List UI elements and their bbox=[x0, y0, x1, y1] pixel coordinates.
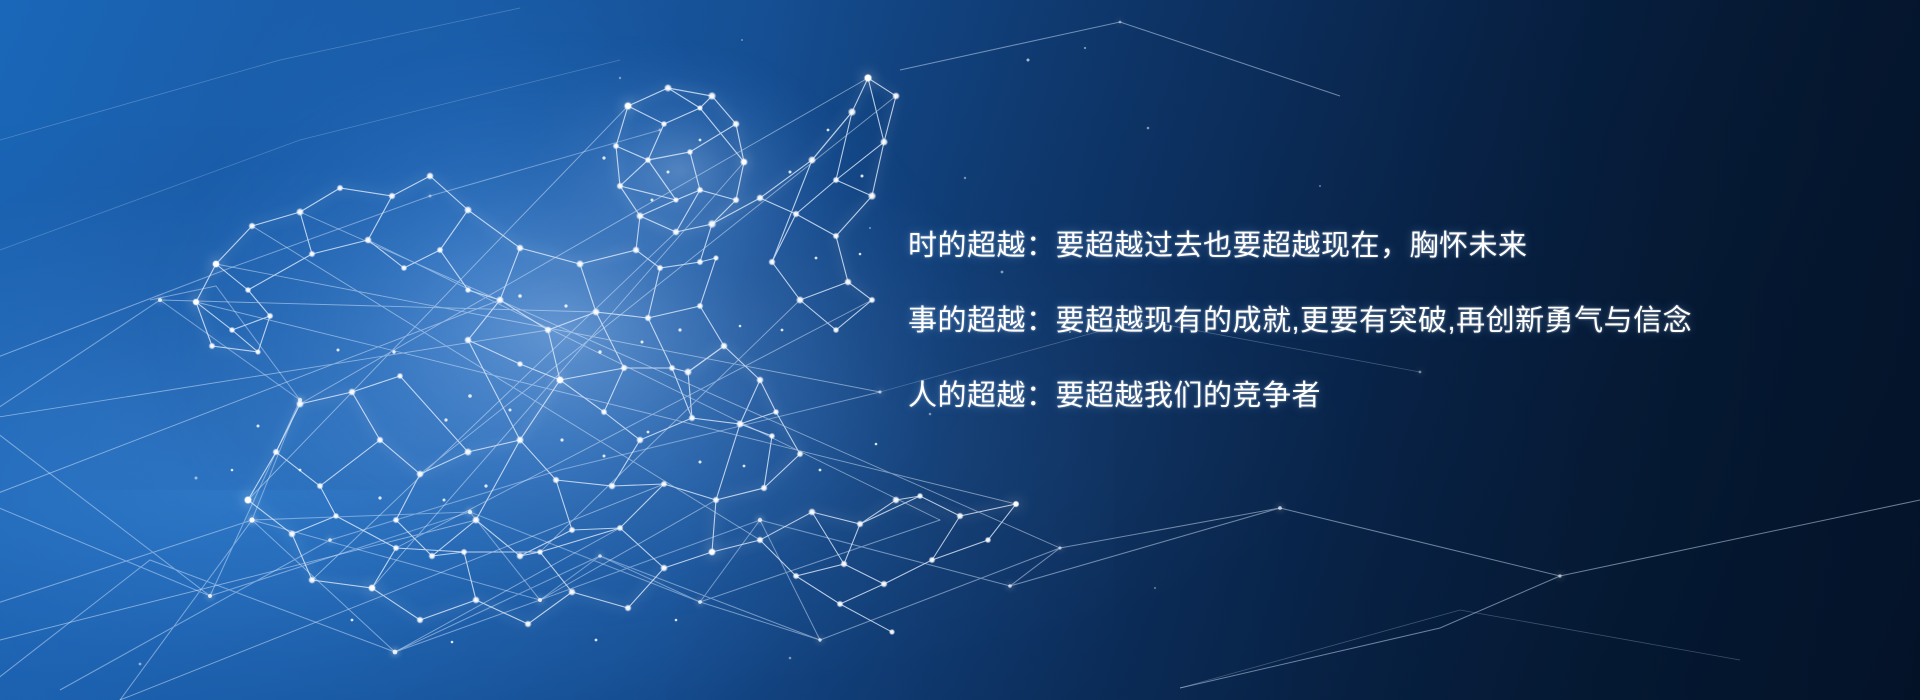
tagline-time: 时的超越：要超越过去也要超越现在，胸怀未来 bbox=[908, 232, 1808, 261]
tagline-people: 人的超越：要超越我们的竞争者 bbox=[908, 382, 1808, 411]
tagline-block: 时的超越：要超越过去也要超越现在，胸怀未来 事的超越：要超越现有的成就,更要有突… bbox=[908, 232, 1808, 411]
hero-banner: 时的超越：要超越过去也要超越现在，胸怀未来 事的超越：要超越现有的成就,更要有突… bbox=[0, 0, 1920, 700]
tagline-matter: 事的超越：要超越现有的成就,更要有突破,再创新勇气与信念 bbox=[908, 307, 1808, 336]
